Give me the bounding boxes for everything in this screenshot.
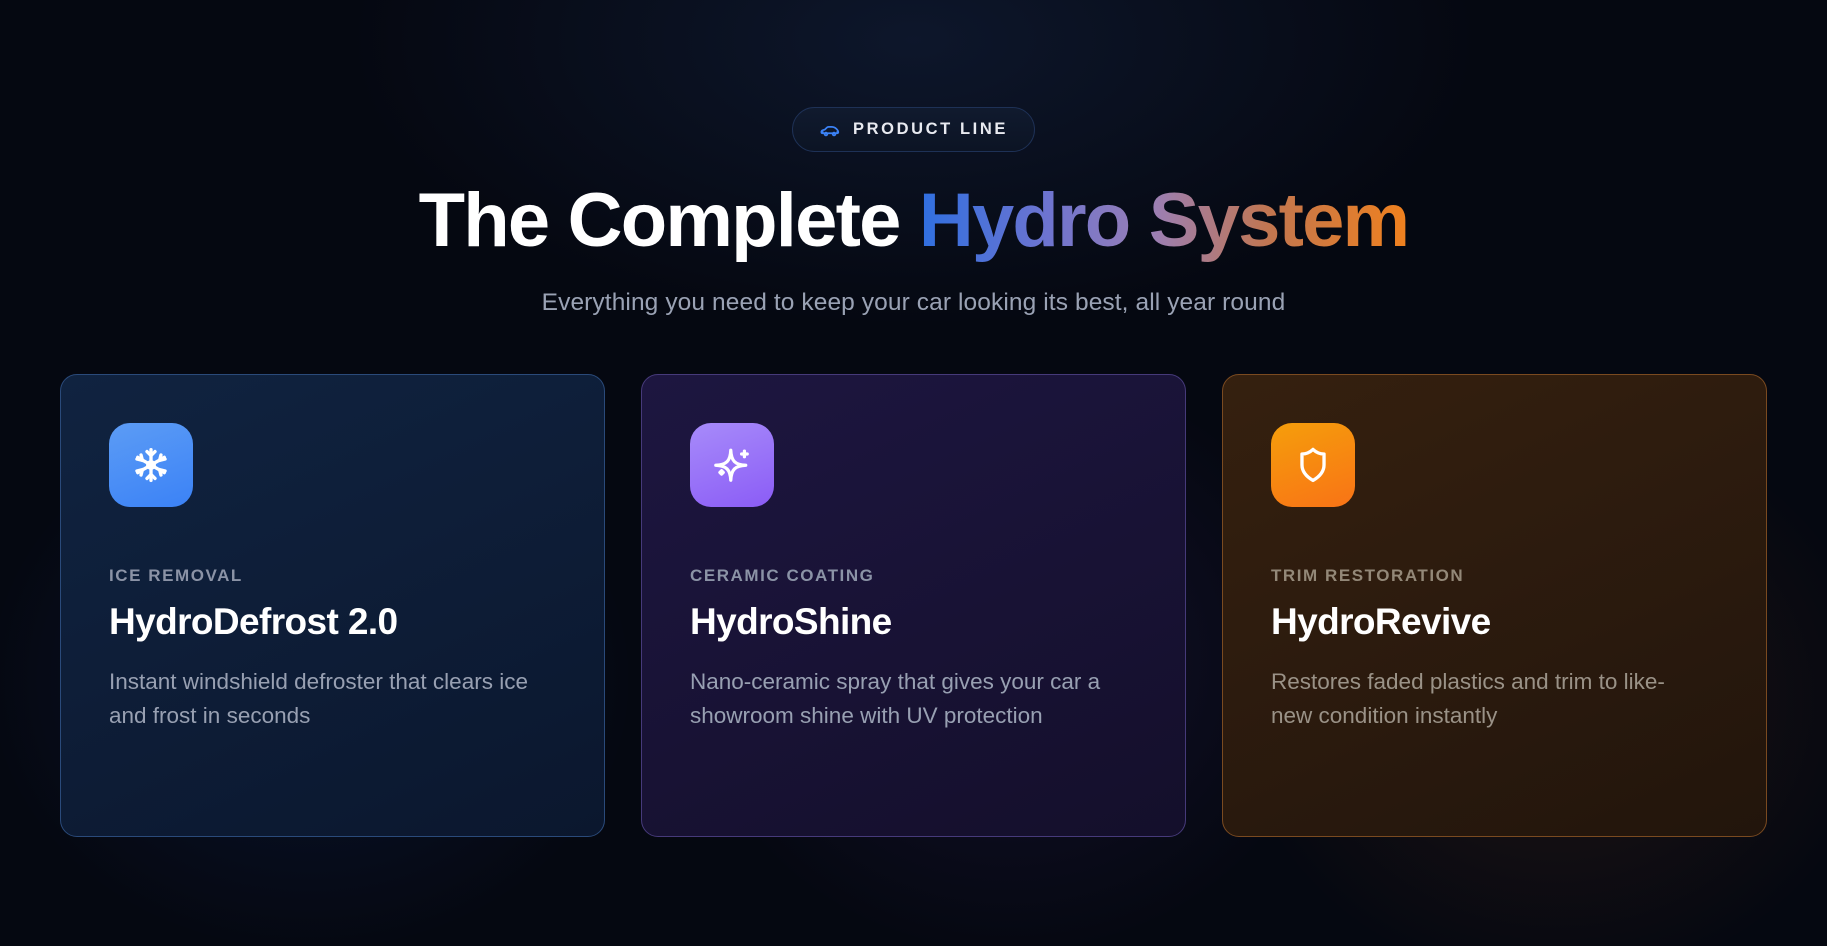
headline-plain: The Complete — [419, 178, 919, 263]
product-card-hydroshine[interactable]: CERAMIC COATING HydroShine Nano-ceramic … — [641, 374, 1186, 837]
section-header: PRODUCT LINE The Complete Hydro System E… — [60, 0, 1767, 317]
snowflake-icon — [109, 423, 193, 507]
card-title: HydroDefrost 2.0 — [109, 601, 556, 643]
shield-icon — [1271, 423, 1355, 507]
product-card-hydrodefrost[interactable]: ICE REMOVAL HydroDefrost 2.0 Instant win… — [60, 374, 605, 837]
badge-label: PRODUCT LINE — [853, 120, 1008, 139]
card-title: HydroRevive — [1271, 601, 1718, 643]
sparkle-icon — [690, 423, 774, 507]
card-title: HydroShine — [690, 601, 1137, 643]
card-description: Nano-ceramic spray that gives your car a… — [690, 665, 1110, 733]
page-subtitle: Everything you need to keep your car loo… — [60, 289, 1767, 317]
card-description: Instant windshield defroster that clears… — [109, 665, 529, 733]
product-card-hydrorevive[interactable]: TRIM RESTORATION HydroRevive Restores fa… — [1222, 374, 1767, 837]
product-card-grid: ICE REMOVAL HydroDefrost 2.0 Instant win… — [60, 374, 1767, 837]
product-line-section: PRODUCT LINE The Complete Hydro System E… — [0, 0, 1827, 946]
card-eyebrow: TRIM RESTORATION — [1271, 566, 1718, 586]
headline-accent: Hydro System — [919, 178, 1408, 263]
car-icon — [819, 119, 841, 141]
card-description: Restores faded plastics and trim to like… — [1271, 665, 1691, 733]
page-title: The Complete Hydro System — [60, 180, 1767, 262]
card-eyebrow: CERAMIC COATING — [690, 566, 1137, 586]
card-eyebrow: ICE REMOVAL — [109, 566, 556, 586]
product-line-badge: PRODUCT LINE — [792, 107, 1035, 152]
